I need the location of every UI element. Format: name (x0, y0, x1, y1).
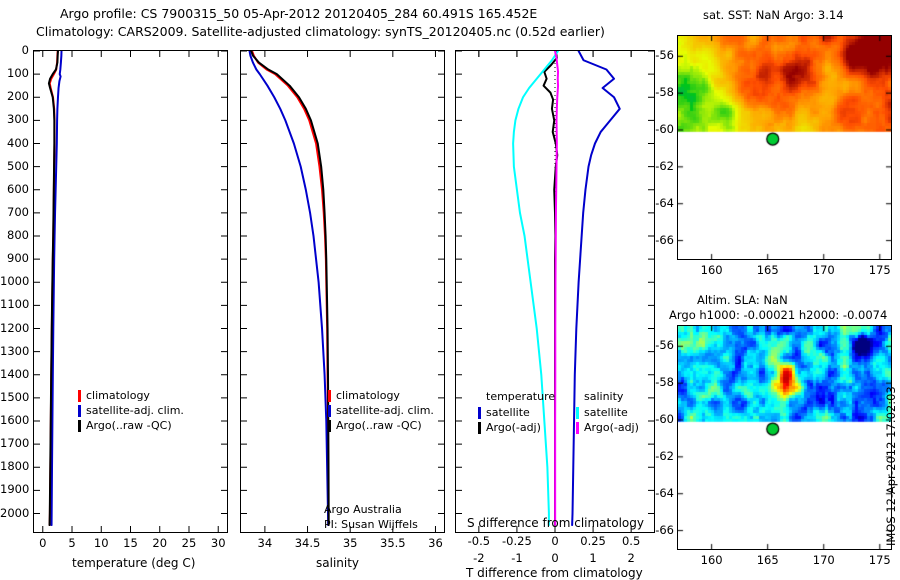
map-lat-tick-label: -66 (0, 233, 674, 247)
sst-map-canvas (678, 36, 891, 259)
credit-line: Argo Australia (324, 503, 418, 518)
legend-title: salinity (576, 390, 639, 405)
map-lon-tick-label: 160 (687, 263, 737, 277)
axis-tick-label: 1000 (0, 274, 29, 288)
map-lat-tick-label: -62 (0, 159, 674, 173)
map-lon-tick-label: 165 (743, 553, 793, 567)
header-line-2: Climatology: CARS2009. Satellite-adjuste… (36, 24, 605, 39)
sla-map-frame (677, 325, 892, 550)
temperature-axis-label: temperature (deg C) (72, 556, 195, 570)
legend-title: temperature (478, 390, 555, 405)
map-lat-tick-label: -56 (0, 48, 674, 62)
axis-tick-label: 1200 (0, 321, 29, 335)
map-lon-tick-label: 165 (743, 263, 793, 277)
axis-tick-label: 1500 (0, 390, 29, 404)
map-lat-tick-label: -64 (0, 196, 674, 210)
sla-map-title-2: Argo h1000: -0.00021 h2000: -0.0074 (669, 308, 887, 322)
map-lat-tick-label: -58 (0, 375, 674, 389)
axis-tick-label: 2000 (0, 506, 29, 520)
map-lat-tick-label: -62 (0, 449, 674, 463)
map-lon-tick-label: 175 (855, 263, 900, 277)
sla-map-canvas (678, 326, 891, 549)
map-lon-tick-label: 170 (799, 553, 849, 567)
legend-color-swatch (328, 390, 331, 402)
axis-tick-label: 100 (0, 66, 29, 80)
legend-label: climatology (336, 389, 400, 402)
map-lat-tick-label: -66 (0, 523, 674, 537)
sla-map-title-1: Altim. SLA: NaN (697, 293, 788, 307)
legend-label: climatology (86, 389, 150, 402)
axis-tick-label: 2 (601, 551, 661, 565)
map-lat-tick-label: -60 (0, 412, 674, 426)
legend-item: climatology (78, 388, 184, 403)
difference-temperature-axis-label: T difference from climatology (466, 566, 643, 580)
header-line-1: Argo profile: CS 7900315_50 05-Apr-2012 … (60, 6, 537, 21)
map-lon-tick-label: 175 (855, 553, 900, 567)
map-lon-tick-label: 170 (799, 263, 849, 277)
salinity-legend: climatologysatellite-adj. clim.Argo(..ra… (328, 388, 434, 433)
temperature-legend: climatologysatellite-adj. clim.Argo(..ra… (78, 388, 184, 433)
map-lat-tick-label: -64 (0, 486, 674, 500)
imos-timestamp-label: IMOS 12-Apr-2012 17:02:03 (884, 386, 898, 546)
axis-tick-label: 400 (0, 136, 29, 150)
axis-tick-label: 1100 (0, 297, 29, 311)
map-lon-tick-label: 160 (687, 553, 737, 567)
map-lat-tick-label: -56 (0, 338, 674, 352)
sst-map-frame (677, 35, 892, 260)
axis-tick-label: 900 (0, 251, 29, 265)
axis-tick-label: 600 (0, 182, 29, 196)
map-lat-tick-label: -58 (0, 85, 674, 99)
salinity-axis-label: salinity (316, 556, 359, 570)
legend-color-swatch (78, 390, 81, 402)
legend-item: climatology (328, 388, 434, 403)
map-lat-tick-label: -60 (0, 122, 674, 136)
sst-map-title: sat. SST: NaN Argo: 3.14 (703, 8, 844, 22)
